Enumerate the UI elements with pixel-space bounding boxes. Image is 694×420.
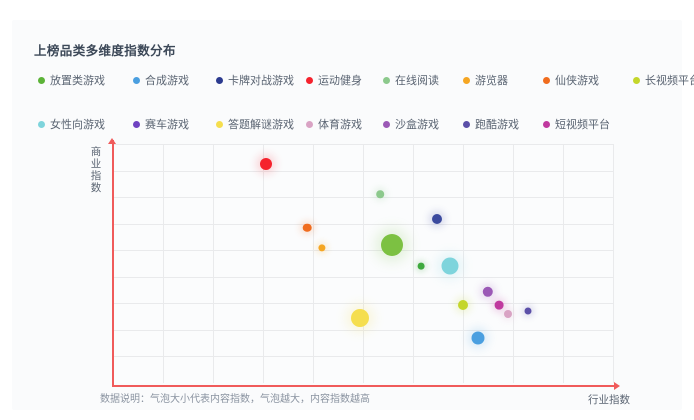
grid-line-vertical [313,144,314,383]
grid-line-horizontal [113,277,613,278]
bubble-point[interactable] [303,223,312,232]
grid-line-horizontal [113,224,613,225]
bubble-point[interactable] [381,234,403,256]
bubble-point[interactable] [432,214,442,224]
bubble-point[interactable] [504,310,512,318]
y-axis-label: 商业指数 [88,146,104,194]
grid-line-vertical [363,144,364,383]
bubble-point[interactable] [442,257,459,274]
grid-line-vertical [513,144,514,383]
bubble-point[interactable] [472,331,485,344]
x-axis-label: 行业指数 [588,392,630,407]
grid-line-horizontal [113,356,613,357]
grid-lines [113,144,613,383]
grid-line-vertical [463,144,464,383]
bubble-point[interactable] [376,190,384,198]
plot-wrapper: 商业指数 行业指数 [12,20,682,410]
plot-area [113,144,613,383]
grid-line-vertical [613,144,614,383]
grid-line-horizontal [113,250,613,251]
x-axis-line [112,385,616,387]
x-axis-arrow-icon [614,382,620,390]
bubble-point[interactable] [260,158,272,170]
bubble-point[interactable] [458,300,468,310]
grid-line-horizontal [113,197,613,198]
bubble-point[interactable] [418,263,425,270]
y-axis-arrow-icon [108,138,116,144]
chart-card: 上榜品类多维度指数分布 放置类游戏合成游戏卡牌对战游戏运动健身在线阅读游览器仙侠… [12,20,682,410]
grid-line-horizontal [113,330,613,331]
bubble-point[interactable] [351,309,369,327]
grid-line-horizontal [113,171,613,172]
grid-line-vertical [213,144,214,383]
grid-line-horizontal [113,144,613,145]
grid-line-horizontal [113,303,613,304]
bubble-point[interactable] [525,307,532,314]
bubble-point[interactable] [495,301,504,310]
chart-footnote: 数据说明：气泡大小代表内容指数，气泡越大，内容指数越高 [100,390,370,405]
grid-line-vertical [563,144,564,383]
grid-line-vertical [413,144,414,383]
grid-line-vertical [263,144,264,383]
grid-line-vertical [163,144,164,383]
y-axis-line [112,140,114,387]
